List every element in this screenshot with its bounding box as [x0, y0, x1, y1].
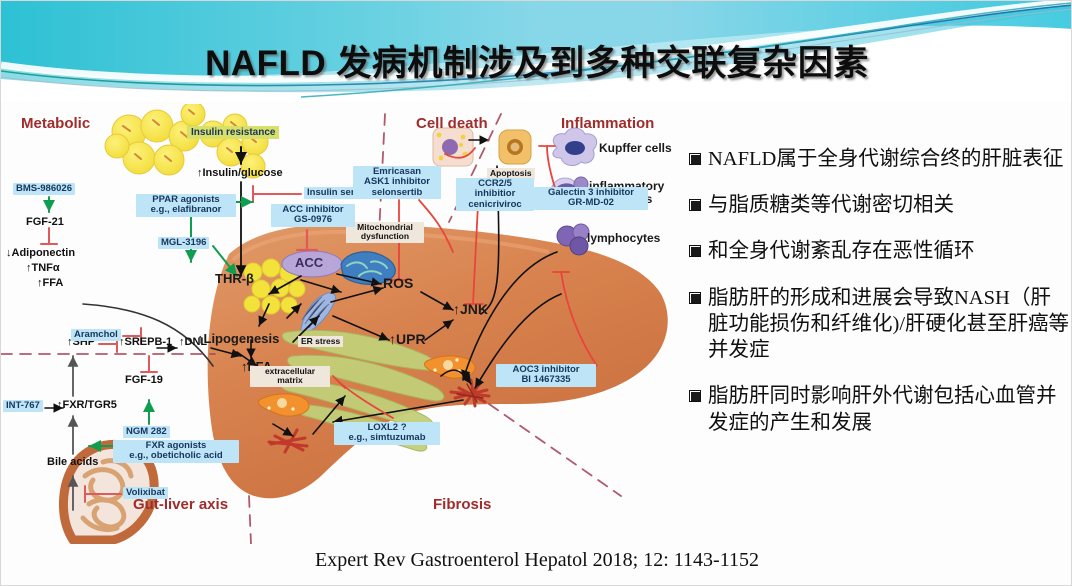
drug-bms-986026[interactable]: BMS-986026	[13, 183, 75, 195]
node-tnfa: ↑TNFα	[26, 262, 60, 274]
list-item: 和全身代谢紊乱存在恶性循环	[689, 238, 1071, 264]
divider-fibrosis-left	[249, 496, 251, 544]
node-extracellular-matrix: extracellular matrix	[250, 366, 330, 387]
node-fgf-19: FGF-19	[125, 374, 163, 386]
bullet-text: 脂肪肝同时影响肝外代谢包括心血管并发症的产生和发展	[708, 383, 1071, 435]
node-jnk: ↑JNK	[453, 302, 488, 317]
node-upr: ↑UPR	[389, 332, 426, 347]
node-fxr-tgr5: ↑FXR/TGR5	[57, 399, 117, 411]
bullet-text: 脂肪肝的形成和进展会导致NASH（肝脏功能损伤和纤维化)/肝硬化甚至肝癌等并发症	[708, 285, 1071, 364]
list-item: NAFLD属于全身代谢综合终的肝脏表征	[689, 146, 1071, 172]
drug-volixibat[interactable]: Volixibat	[123, 487, 168, 499]
inhibit-fgf21-adiponectin	[41, 228, 57, 244]
divider-fibrosis-right	[489, 404, 621, 496]
drug-ngm-282[interactable]: NGM 282	[123, 426, 170, 438]
drug-aoc3-inhibitor[interactable]: AOC3 inhibitor BI 1467335	[496, 364, 596, 387]
drug-emricasan-ask1[interactable]: Emricasan ASK1 inhibitor selonsertib	[353, 166, 441, 199]
node-thr-beta: THR-β	[215, 272, 254, 286]
bullet-square-icon	[689, 390, 701, 402]
bullet-square-icon	[689, 292, 701, 304]
drug-ccr25-inhibitor[interactable]: CCR2/5 inhibitior cenicriviroc	[456, 178, 534, 211]
slide-canvas: NAFLD 发病机制涉及到多种交联复杂因素	[0, 0, 1072, 586]
node-insulin-glucose: ↑Insulin/glucose	[197, 167, 283, 179]
node-ros: ROS	[383, 276, 413, 291]
drug-int-767[interactable]: INT-767	[3, 400, 43, 412]
node-adiponectin: ↓Adiponectin	[6, 247, 75, 259]
kupffer-cell-icon	[553, 128, 597, 165]
section-title-gut-liver-axis: Gut-liver axis	[133, 497, 228, 514]
node-acc: ACC	[295, 256, 323, 270]
section-title-cell-death: Cell death	[416, 116, 488, 133]
node-mitochondrial-dysfunction: Mitochondrial dysfunction	[346, 222, 424, 243]
node-fgf-21: FGF-21	[26, 216, 64, 228]
bullet-list: NAFLD属于全身代谢综合终的肝脏表征 与脂质糖类等代谢密切相关 和全身代谢紊乱…	[689, 146, 1071, 456]
nafld-pathogenesis-figure: Metabolic Cell death Inflammation Gut-li…	[1, 104, 691, 544]
drug-acc-inhibitor[interactable]: ACC inhibitor GS-0976	[271, 204, 355, 227]
bullet-square-icon	[689, 153, 701, 165]
inhibit-fgf19-srepb	[141, 356, 157, 372]
node-lymphocytes: lymphocytes	[587, 232, 660, 245]
section-title-metabolic: Metabolic	[21, 116, 90, 133]
drug-loxl2[interactable]: LOXL2 ? e.g., simtuzumab	[334, 422, 440, 445]
section-title-fibrosis: Fibrosis	[433, 497, 491, 514]
node-insulin-resistance: Insulin resistance	[187, 126, 279, 139]
node-bile-acids: Bile acids	[47, 456, 98, 468]
section-title-inflammation: Inflammation	[561, 116, 654, 133]
drug-aramchol[interactable]: Aramchol	[71, 329, 121, 341]
list-item: 脂肪肝的形成和进展会导致NASH（肝脏功能损伤和纤维化)/肝硬化甚至肝癌等并发症	[689, 285, 1071, 364]
node-srepb-1: ↑SREPB-1	[119, 336, 172, 348]
node-ffa-left: ↑FFA	[37, 277, 63, 289]
drug-galectin-3-inhibitor[interactable]: Galectin 3 inhibitor GR-MD-02	[534, 187, 648, 210]
bullet-text: NAFLD属于全身代谢综合终的肝脏表征	[708, 146, 1071, 172]
hepatocyte-icon	[433, 128, 473, 166]
node-kupffer-cells: Kupffer cells	[599, 142, 672, 155]
apoptotic-cell-icon	[499, 130, 531, 164]
drug-ppar-agonists[interactable]: PPAR agonists e.g., elafibranor	[136, 194, 236, 217]
bullet-text: 与脂质糖类等代谢密切相关	[708, 192, 1071, 218]
bullet-text: 和全身代谢紊乱存在恶性循环	[708, 238, 1071, 264]
node-dnl: ↑DNL	[179, 336, 207, 348]
drug-fxr-agonists[interactable]: FXR agonists e.g., obeticholic acid	[113, 440, 239, 463]
drug-mgl-3196[interactable]: MGL-3196	[158, 237, 209, 249]
bullet-square-icon	[689, 199, 701, 211]
inhibit-insulin-sensitizer	[253, 186, 301, 202]
list-item: 脂肪肝同时影响肝外代谢包括心血管并发症的产生和发展	[689, 383, 1071, 435]
list-item: 与脂质糖类等代谢密切相关	[689, 192, 1071, 218]
node-lipogenesis: ↑Lipogenesis	[197, 332, 279, 346]
page-title: NAFLD 发病机制涉及到多种交联复杂因素	[1, 35, 1072, 86]
bullet-square-icon	[689, 245, 701, 257]
citation-text: Expert Rev Gastroenterol Hepatol 2018; 1…	[1, 549, 1072, 572]
node-er-stress: ER stress	[298, 336, 343, 347]
